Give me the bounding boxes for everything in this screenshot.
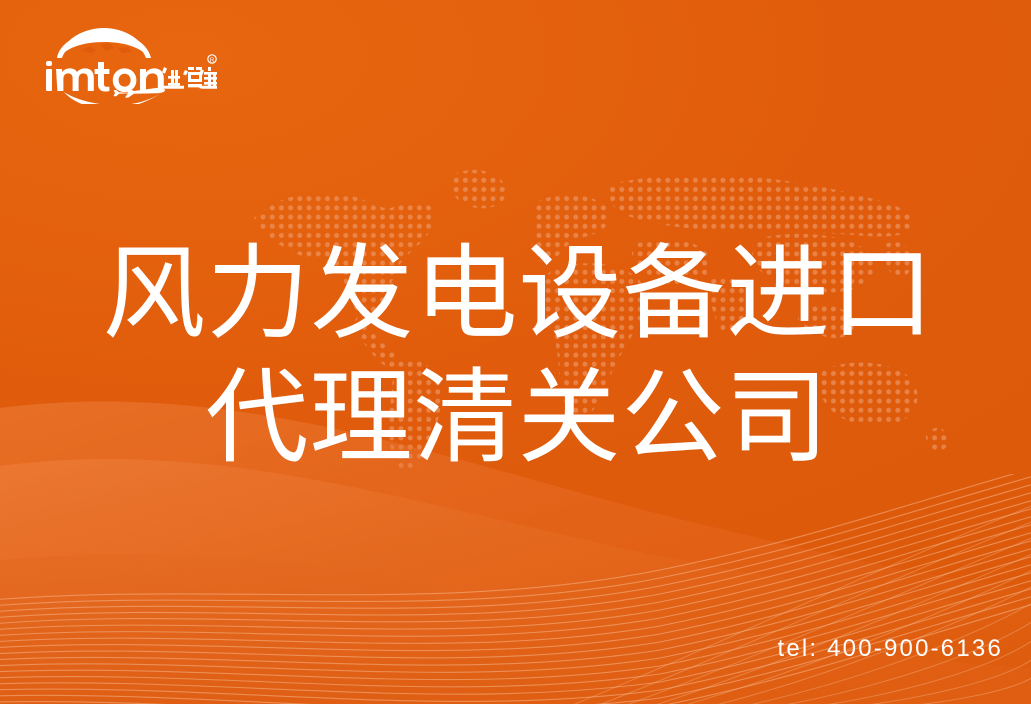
- svg-text:R: R: [210, 58, 215, 64]
- plane-swoosh-icon: [64, 88, 168, 104]
- logo-chinese-text: [162, 67, 217, 89]
- page-title: 风力发电设备进口 代理清关公司: [0, 232, 1031, 480]
- promo-banner: R 风力发电设备进口 代理清关公司 tel: 400-900-6136: [0, 0, 1031, 704]
- logo-wordmark: [46, 61, 164, 92]
- headline-line-2: 代理清关公司: [4, 356, 1031, 480]
- brand-logo[interactable]: R: [42, 26, 217, 104]
- trademark-symbol: R: [208, 55, 216, 64]
- globe-arc-icon: [57, 28, 151, 58]
- headline-line-1: 风力发电设备进口: [6, 232, 1031, 356]
- contact-phone[interactable]: tel: 400-900-6136: [777, 635, 1003, 663]
